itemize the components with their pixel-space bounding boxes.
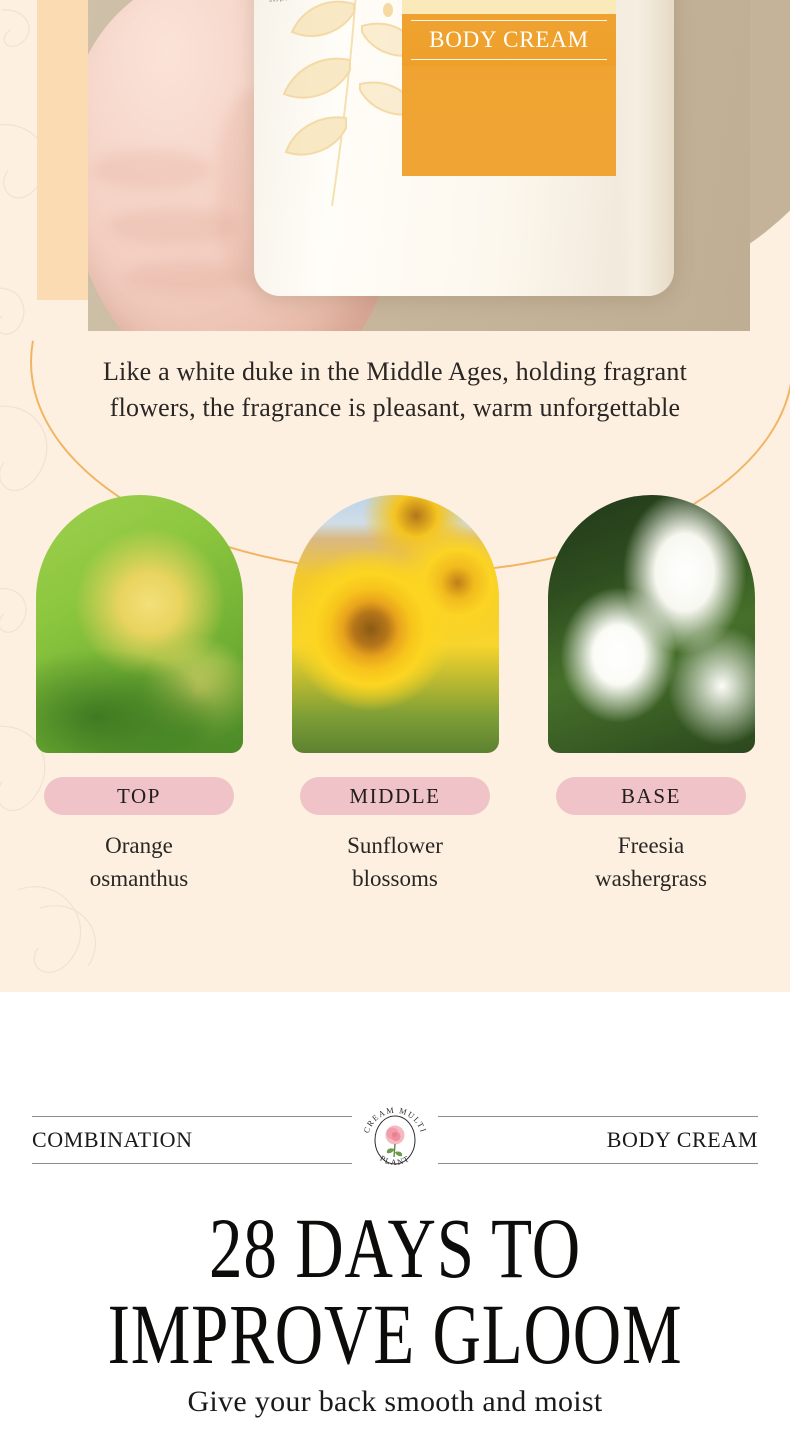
note-name: Freesia washergrass — [595, 829, 707, 895]
section-divider: COMBINATION CREAM MULTI PLAN — [0, 1108, 790, 1172]
note-badge-middle: MIDDLE — [300, 777, 490, 815]
sunflower-photo — [292, 495, 499, 753]
note-name: Sunflower blossoms — [347, 829, 443, 895]
freesia-photo — [548, 495, 755, 753]
headline-subtitle: Give your back smooth and moist — [0, 1385, 790, 1419]
headline-line-2: IMPROVE GLOOM — [87, 1290, 703, 1378]
page-headline: 28 DAYS TO IMPROVE GLOOM — [0, 1206, 790, 1378]
product-type-band: BODY CREAM — [402, 14, 616, 66]
fragrance-note-card: BASE Freesia washergrass — [548, 495, 755, 895]
body-cream-jar: Osmanthus Fragrans Flower Extract, Glyce… — [254, 0, 674, 296]
fragrance-notes-row: TOP Orange osmanthus MIDDLE Sunflower bl… — [0, 495, 790, 895]
seal-bottom-text: PLANT — [378, 1154, 411, 1167]
note-badge-label: TOP — [117, 784, 161, 809]
divider-right-label: BODY CREAM — [607, 1127, 758, 1153]
peach-accent-block — [37, 0, 89, 300]
svg-text:PLANT: PLANT — [378, 1154, 411, 1167]
jar-edge-highlight — [616, 0, 674, 296]
divider-left-label: COMBINATION — [32, 1127, 193, 1153]
note-badge-label: BASE — [621, 784, 681, 809]
rose-seal-icon: CREAM MULTI PLANT — [358, 1103, 432, 1177]
divider-right: BODY CREAM — [438, 1108, 758, 1172]
note-name-line-2: blossoms — [347, 862, 443, 895]
note-badge-top: TOP — [44, 777, 234, 815]
fragrance-note-card: TOP Orange osmanthus — [36, 495, 243, 895]
product-hero-photo: Osmanthus Fragrans Flower Extract, Glyce… — [88, 0, 750, 331]
hero-tagline: Like a white duke in the Middle Ages, ho… — [0, 354, 790, 426]
product-type-label: BODY CREAM — [429, 27, 589, 53]
tagline-line-2: flowers, the fragrance is pleasant, warm… — [0, 390, 790, 426]
note-name-line-1: Freesia — [595, 829, 707, 862]
headline-line-1: 28 DAYS TO — [87, 1206, 703, 1290]
note-name: Orange osmanthus — [90, 829, 188, 895]
fragrance-note-card: MIDDLE Sunflower blossoms — [292, 495, 499, 895]
jar-label-panel: DEEPLY NOURISH SKIN ELASTIC AND TENDER O… — [402, 0, 616, 176]
brand-label: BIOAQUA — [463, 0, 554, 2]
brand-seal: CREAM MULTI PLANT — [358, 1103, 432, 1177]
note-name-line-1: Orange — [90, 829, 188, 862]
note-badge-base: BASE — [556, 777, 746, 815]
brand-band: BIOAQUA — [402, 0, 616, 14]
hero-section: Osmanthus Fragrans Flower Extract, Glyce… — [0, 0, 790, 992]
osmanthus-photo — [36, 495, 243, 753]
note-badge-label: MIDDLE — [349, 784, 440, 809]
note-name-line-2: washergrass — [595, 862, 707, 895]
note-name-line-1: Sunflower — [347, 829, 443, 862]
divider-left: COMBINATION — [32, 1108, 352, 1172]
note-name-line-2: osmanthus — [90, 862, 188, 895]
tagline-line-1: Like a white duke in the Middle Ages, ho… — [0, 354, 790, 390]
